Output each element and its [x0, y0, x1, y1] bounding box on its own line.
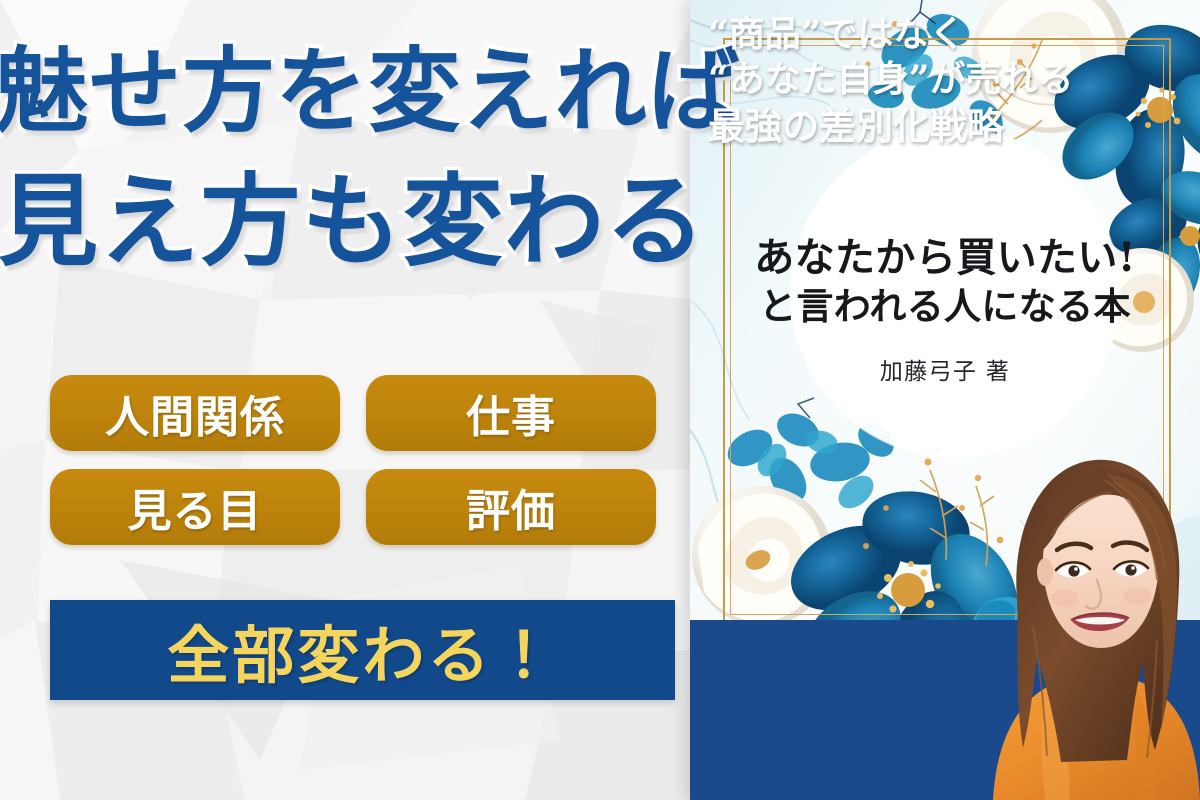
headline: 魅せ方を変えれば 見え方も変わる [0, 46, 700, 272]
book-title-line-1: あなたから買いたい! [690, 236, 1200, 281]
headline-line-2: 見え方も変わる [0, 172, 700, 272]
book-author: 加藤弓子 著 [690, 352, 1200, 386]
caption-line-3: 最強の差別化戦略 [708, 105, 1068, 148]
author-portrait-photo [985, 430, 1200, 800]
keyword-pill-work[interactable]: 仕事 [366, 375, 656, 451]
keyword-pill-human-relations[interactable]: 人間関係 [50, 375, 340, 451]
keyword-pill-label: 見る目 [128, 475, 263, 539]
book-title-block: あなたから買いたい! と言われる人になる本 加藤弓子 著 [690, 236, 1200, 386]
keyword-pill-group: 人間関係 仕事 見る目 評価 [50, 375, 665, 545]
cta-band-label: 全部変わる！ [167, 605, 558, 695]
keyword-pill-label: 人間関係 [105, 381, 285, 445]
keyword-pill-label: 仕事 [466, 381, 556, 445]
headline-line-1: 魅せ方を変えれば [0, 46, 700, 138]
cta-band[interactable]: 全部変わる！ [50, 600, 675, 700]
book-caption-text: “商品”ではなく “あなた自身”が売れる 最強の差別化戦略 [708, 14, 1068, 147]
caption-line-2: “あなた自身”が売れる [708, 59, 1068, 101]
promo-banner: 魅せ方を変えれば 見え方も変わる 人間関係 仕事 見る目 評価 全部変わる！ [0, 0, 1200, 800]
caption-line-1: “商品”ではなく [708, 14, 1068, 56]
keyword-pill-perception[interactable]: 見る目 [50, 469, 340, 545]
keyword-pill-evaluation[interactable]: 評価 [366, 469, 656, 545]
keyword-pill-label: 評価 [466, 475, 556, 539]
book-title-line-2: と言われる人になる本 [690, 285, 1200, 329]
